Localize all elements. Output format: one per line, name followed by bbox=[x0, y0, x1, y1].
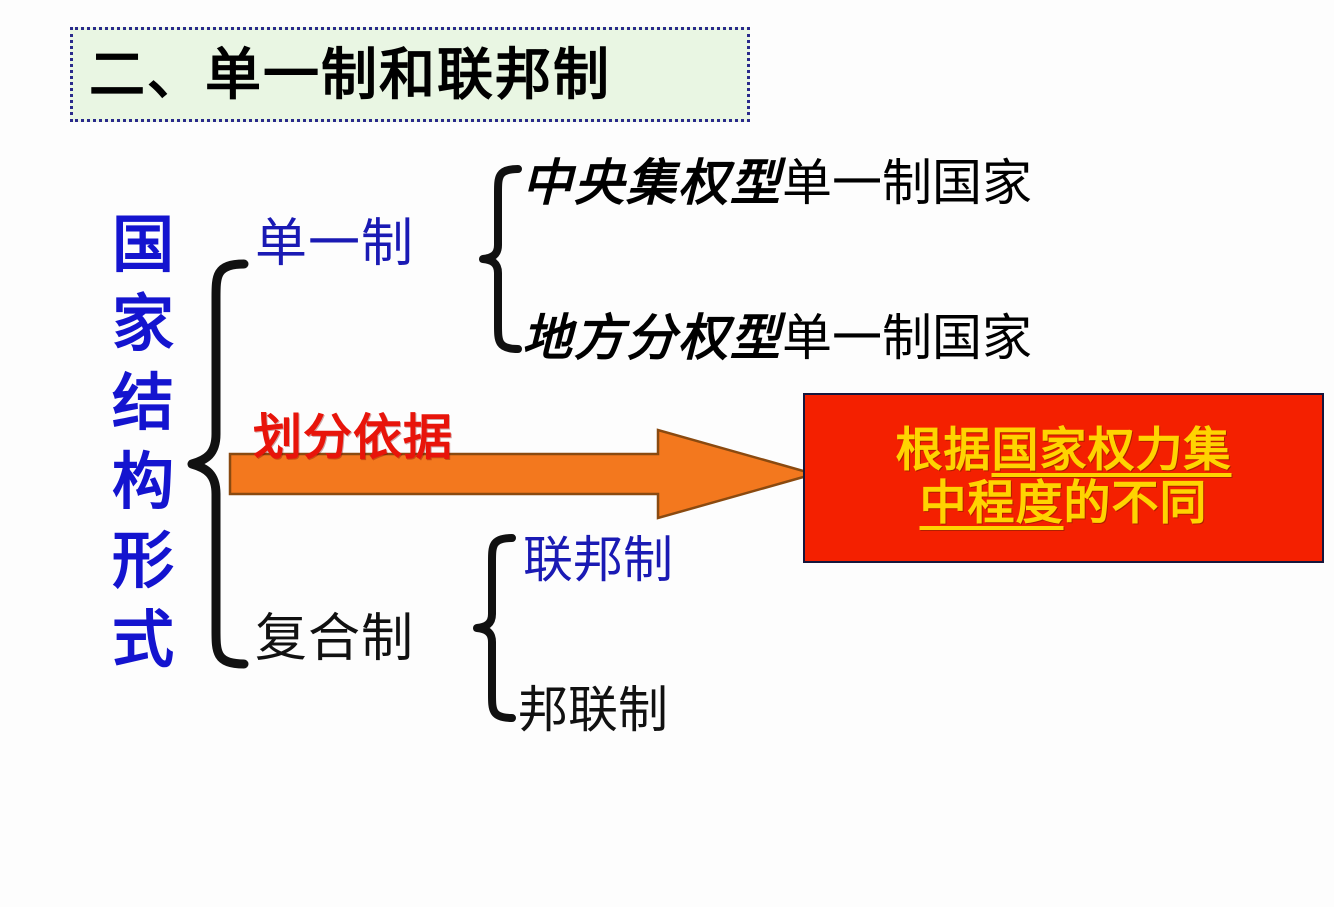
composite-children-brace-icon bbox=[472, 532, 518, 724]
answer-line-1-plain: 根据 bbox=[896, 423, 992, 478]
leaf-local-unitary-rest: 单一制国家 bbox=[782, 309, 1032, 367]
leaf-federal: 联邦制 bbox=[523, 535, 673, 585]
leaf-local-unitary: 地方分权型单一制国家 bbox=[522, 313, 1032, 363]
answer-callout-box: 根据国家权力集 中程度的不同 bbox=[803, 393, 1324, 563]
root-label-vertical: 国 家 结 构 形 式 bbox=[100, 205, 186, 745]
root-char-1: 国 bbox=[100, 205, 186, 284]
slide-canvas: 二、单一制和联邦制 国 家 结 构 形 式 单一制 复合制 中央集权型单一制国家… bbox=[0, 0, 1334, 907]
root-char-3: 结 bbox=[100, 363, 186, 442]
root-char-5: 形 bbox=[100, 521, 186, 600]
leaf-central-unitary: 中央集权型单一制国家 bbox=[522, 158, 1032, 208]
root-char-2: 家 bbox=[100, 284, 186, 363]
basis-label: 划分依据 bbox=[253, 413, 453, 462]
leaf-local-unitary-emphasis: 地方分权型 bbox=[522, 308, 782, 367]
answer-line-2-plain: 的不同 bbox=[1064, 476, 1208, 531]
leaf-central-unitary-rest: 单一制国家 bbox=[782, 154, 1032, 212]
branch-label-unitary: 单一制 bbox=[255, 218, 414, 270]
answer-line-2-underlined: 中程度 bbox=[920, 476, 1064, 531]
branch-label-composite: 复合制 bbox=[255, 613, 414, 665]
section-title-box: 二、单一制和联邦制 bbox=[70, 27, 750, 122]
root-char-6: 式 bbox=[100, 600, 186, 679]
leaf-central-unitary-emphasis: 中央集权型 bbox=[522, 153, 782, 212]
leaf-confederation: 邦联制 bbox=[518, 685, 668, 735]
section-title-text: 二、单一制和联邦制 bbox=[73, 47, 611, 103]
unitary-children-brace-icon bbox=[478, 163, 524, 355]
root-char-4: 构 bbox=[100, 442, 186, 521]
answer-line-1-underlined: 国家权力集 bbox=[992, 423, 1232, 478]
answer-line-2: 中程度的不同 bbox=[920, 478, 1208, 531]
answer-line-1: 根据国家权力集 bbox=[896, 425, 1232, 478]
